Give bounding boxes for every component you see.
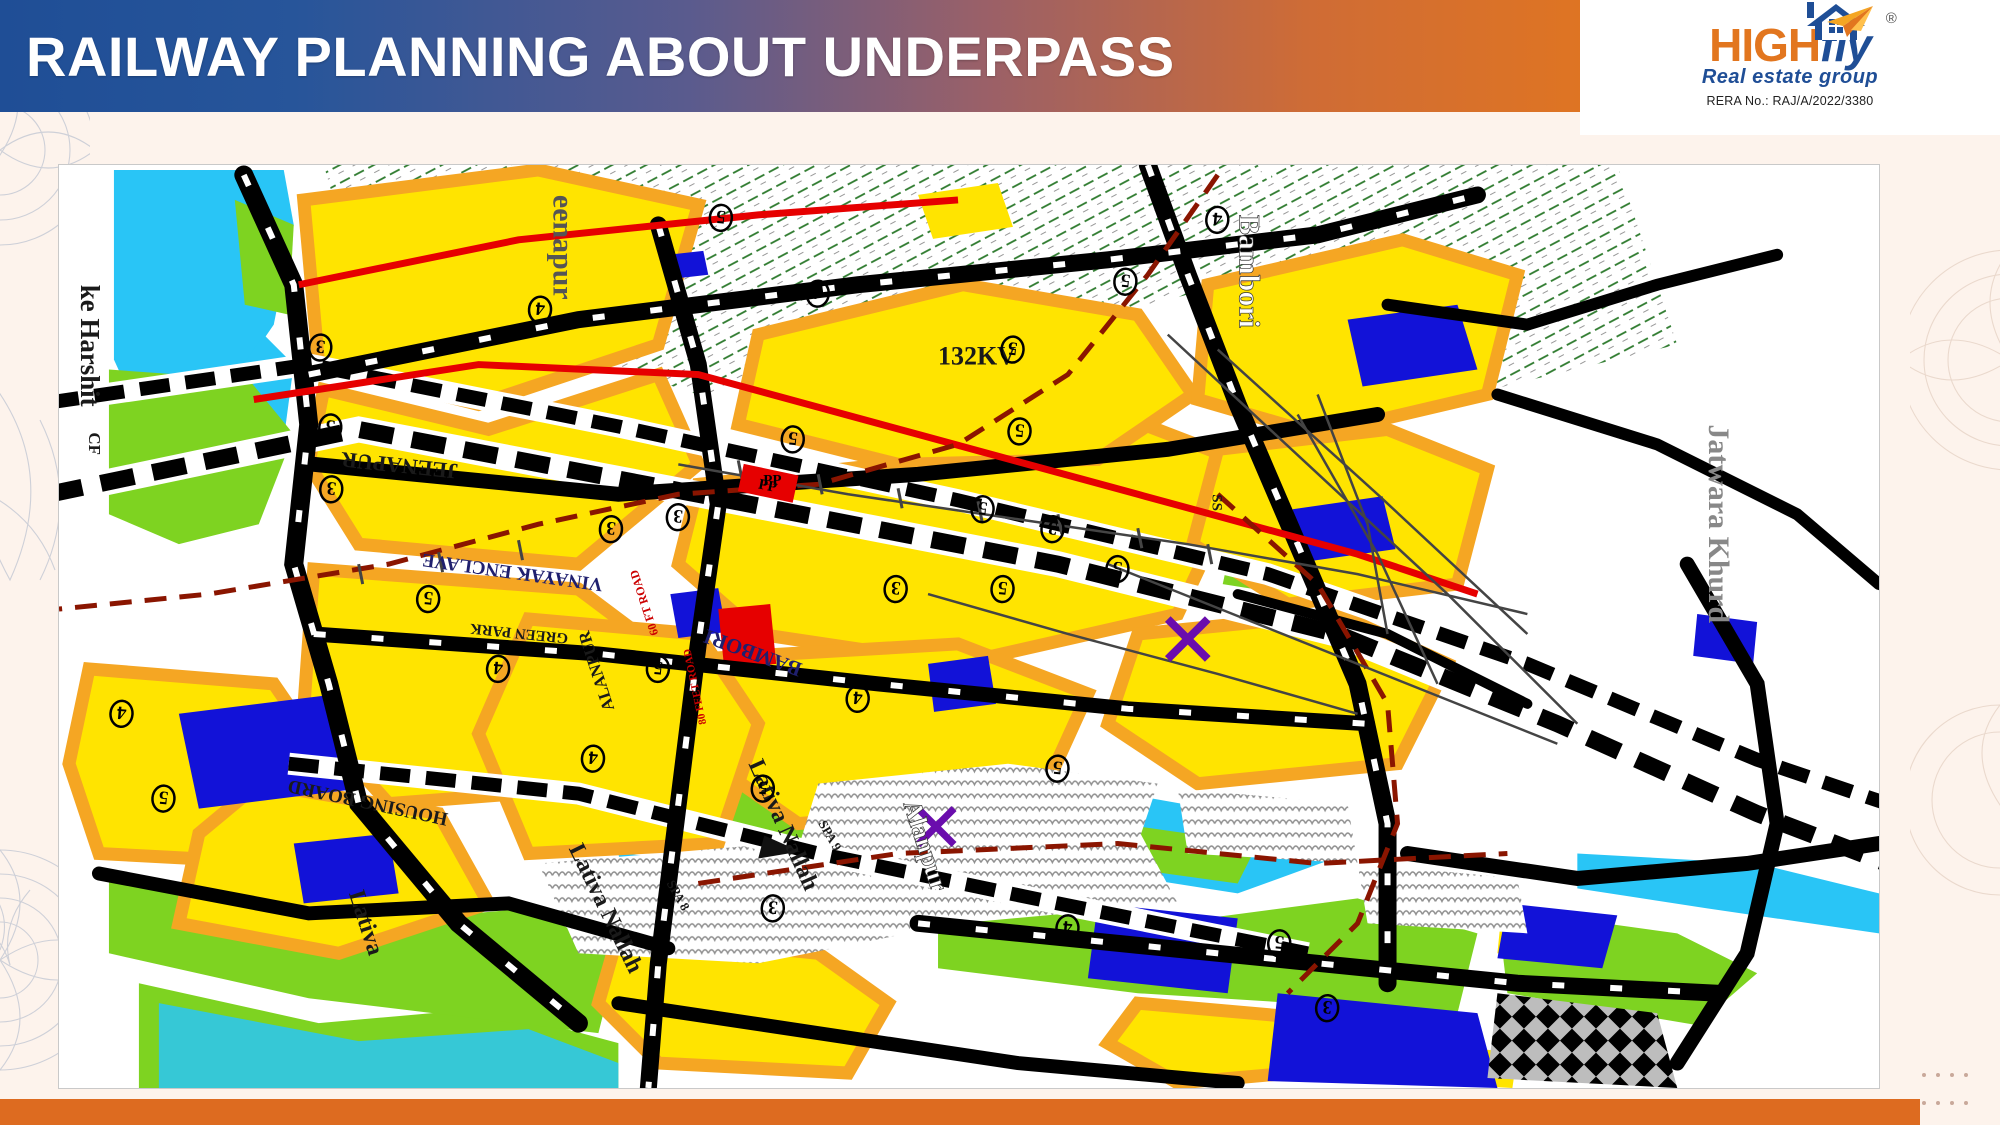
logo-wordmark-row: HIGH fly ® xyxy=(1709,6,1871,68)
decorative-mandala-right xyxy=(1910,0,2000,1125)
svg-text:5: 5 xyxy=(1052,756,1063,778)
svg-text:5: 5 xyxy=(1014,419,1025,441)
svg-text:5: 5 xyxy=(977,497,988,519)
corner-dots-decoration xyxy=(1916,1045,1986,1115)
svg-text:5: 5 xyxy=(715,206,726,228)
map-place-label: 132KV xyxy=(938,342,1016,371)
rera-number: RERA No.: RAJ/A/2022/3380 xyxy=(1707,94,1874,108)
svg-text:5: 5 xyxy=(1112,557,1123,579)
svg-text:3: 3 xyxy=(672,505,683,527)
registered-mark: ® xyxy=(1886,10,1897,27)
map-place-label: PP xyxy=(763,472,781,488)
svg-text:3: 3 xyxy=(1047,517,1058,539)
map-canvas[interactable]: PP ke HarshitCFeenapurJEENAPURBamboriJat… xyxy=(59,165,1879,1088)
map-place-label: ke Harshit xyxy=(75,285,105,407)
paper-plane-icon xyxy=(1821,4,1875,38)
svg-text:5: 5 xyxy=(757,776,768,798)
svg-text:5: 5 xyxy=(787,427,798,449)
svg-text:5: 5 xyxy=(325,415,336,437)
logo-text-high: HIGH xyxy=(1709,22,1820,68)
svg-text:3: 3 xyxy=(605,517,616,539)
map-place-label: SS xyxy=(1209,494,1225,511)
svg-text:5: 5 xyxy=(997,577,1008,599)
map-place-label: CF xyxy=(85,432,104,455)
page-title: RAILWAY PLANNING ABOUT UNDERPASS xyxy=(0,24,1175,89)
svg-text:3: 3 xyxy=(326,477,337,499)
map-place-label: eenapur xyxy=(546,195,579,300)
slide-header-bar: RAILWAY PLANNING ABOUT UNDERPASS xyxy=(0,0,1640,112)
svg-text:3: 3 xyxy=(767,896,778,918)
svg-text:5: 5 xyxy=(652,657,663,679)
svg-text:3: 3 xyxy=(315,335,326,357)
svg-text:5: 5 xyxy=(1274,931,1285,953)
svg-text:5: 5 xyxy=(1007,337,1018,359)
slide-footer-bar xyxy=(0,1099,1920,1125)
map-place-label: Jatwara Khurd xyxy=(1702,424,1735,623)
svg-text:5: 5 xyxy=(423,587,434,609)
svg-text:5: 5 xyxy=(158,786,169,808)
company-logo: HIGH fly ® Real estate group RERA No.: R… xyxy=(1580,0,2000,135)
svg-text:3: 3 xyxy=(890,577,901,599)
svg-text:3: 3 xyxy=(1322,996,1333,1018)
land-use-map[interactable]: PP ke HarshitCFeenapurJEENAPURBamboriJat… xyxy=(58,164,1880,1089)
map-place-label: Bambori xyxy=(1233,215,1266,328)
svg-text:5: 5 xyxy=(1120,269,1131,291)
